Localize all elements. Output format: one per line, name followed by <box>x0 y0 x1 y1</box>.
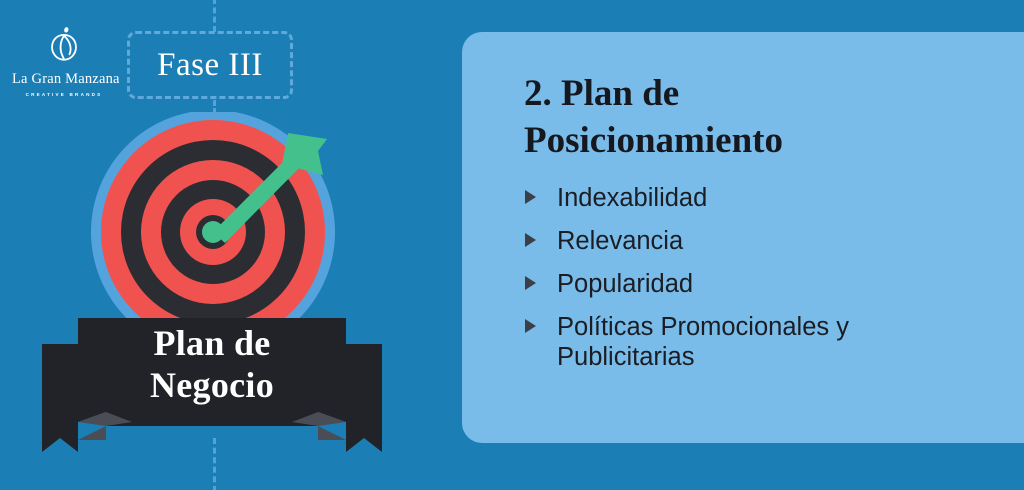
list-item-label: Políticas Promocionales y Publicitarias <box>557 313 849 371</box>
list-item: Políticas Promocionales y Publicitarias <box>524 312 987 372</box>
list-item-label: Indexabilidad <box>557 184 707 212</box>
slide-canvas: La Gran Manzana CREATIVE BRANDS Fase III <box>0 0 1024 490</box>
phase-badge: Fase III <box>127 31 293 99</box>
triangle-bullet-icon <box>525 233 536 247</box>
ribbon-banner: Plan de Negocio <box>42 300 382 452</box>
dashed-connector-top <box>213 0 216 32</box>
page-title: 2. Plan de Posicionamiento <box>524 70 944 165</box>
triangle-bullet-icon <box>525 190 536 204</box>
list-item: Relevancia <box>524 226 987 256</box>
bullet-list: IndexabilidadRelevanciaPopularidadPolíti… <box>524 183 1024 372</box>
apple-outline-icon <box>41 22 87 68</box>
triangle-bullet-icon <box>525 276 536 290</box>
ribbon-shape <box>42 300 382 452</box>
phase-badge-label: Fase III <box>157 49 263 82</box>
list-item-label: Popularidad <box>557 270 693 298</box>
brand-logo: La Gran Manzana CREATIVE BRANDS <box>12 22 116 97</box>
triangle-bullet-icon <box>525 319 536 333</box>
logo-tagline: CREATIVE BRANDS <box>12 92 116 97</box>
logo-name: La Gran Manzana <box>12 72 116 88</box>
list-item: Popularidad <box>524 269 987 299</box>
list-item-label: Relevancia <box>557 227 683 255</box>
list-item: Indexabilidad <box>524 183 987 213</box>
content-panel: 2. Plan de Posicionamiento Indexabilidad… <box>462 32 1024 443</box>
